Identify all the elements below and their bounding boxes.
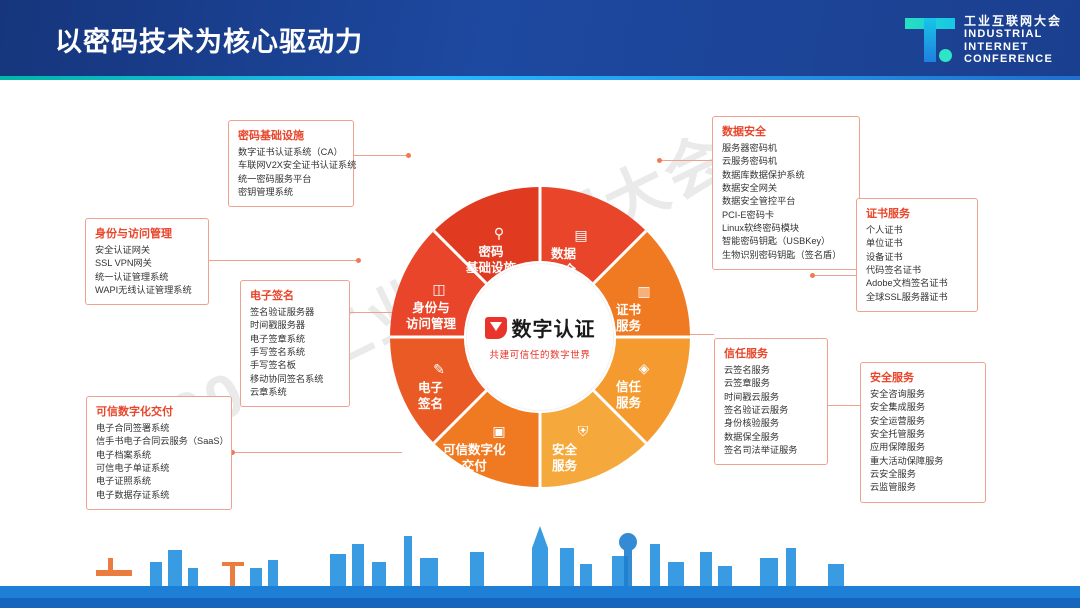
handshake-icon: ◈: [631, 360, 657, 377]
card-certificate-service[interactable]: 证书服务 个人证书 单位证书 设备证书 代码签名证书 Adobe文档签名证书 全…: [856, 198, 978, 312]
card-title: 安全服务: [870, 369, 976, 385]
list-item: 云监管服务: [870, 481, 976, 494]
shield-icon: ⛨: [570, 423, 596, 440]
list-item: 云签名服务: [724, 364, 818, 377]
list-item: Linux软终密码模块: [722, 222, 850, 235]
list-item: WAPI无线认证管理系统: [95, 284, 199, 297]
list-item: 云安全服务: [870, 468, 976, 481]
list-item: 全球SSL服务器证书: [866, 291, 968, 304]
list-item: 统一密码服务平台: [238, 173, 344, 186]
list-item: 电子档案系统: [96, 449, 222, 462]
card-trust-service[interactable]: 信任服务 云签名服务 云签章服务 时间戳云服务 签名验证云服务 身份核验服务 数…: [714, 338, 828, 465]
certificate-icon: ▥: [631, 283, 657, 300]
card-title: 信任服务: [724, 345, 818, 361]
connector-line: [812, 275, 856, 276]
page-header: 以密码技术为核心驱动力 工业互联网大会 INDUSTRIAL INTERNET …: [0, 0, 1080, 80]
list-item: 手写签名板: [250, 359, 340, 372]
connector-line: [232, 452, 402, 453]
list-item: 时间戳服务器: [250, 319, 340, 332]
list-item: 设备证书: [866, 251, 968, 264]
list-item: 手写签名系统: [250, 346, 340, 359]
connector-dot: [406, 153, 411, 158]
brand-name: 数字认证: [512, 313, 596, 342]
card-item-list: 数字证书认证系统（CA） 车联网V2X安全证书认证系统 统一密码服务平台 密钥管…: [238, 146, 344, 199]
skyline-svg: [0, 518, 1080, 608]
diagram-canvas: 2023工业互联网大会: [0, 80, 1080, 608]
list-item: 可信电子单证系统: [96, 462, 222, 475]
list-item: 云章系统: [250, 386, 340, 399]
logo-line-2: INTERNET: [964, 41, 1062, 53]
list-item: 安全运营服务: [870, 415, 976, 428]
identity-icon: ◫: [426, 281, 452, 298]
list-item: 数据安全网关: [722, 182, 850, 195]
connector-line: [352, 155, 410, 156]
logo-mark-icon: [905, 16, 955, 64]
card-trusted-delivery[interactable]: 可信数字化交付 电子合同签署系统 信手书电子合同云服务（SaaS） 电子档案系统…: [86, 396, 232, 510]
wheel-label-security-service: 安全服务: [552, 443, 577, 474]
wheel-label-trust-service: 信任服务: [616, 380, 641, 411]
brand-slogan: 共建可信任的数字世界: [489, 347, 590, 361]
card-e-signature[interactable]: 电子签名 签名验证服务器 时间戳服务器 电子签章系统 手写签名系统 手写签名板 …: [240, 280, 350, 407]
card-item-list: 安全咨询服务 安全集成服务 安全运营服务 安全托管服务 应用保障服务 重大活动保…: [870, 388, 976, 495]
card-identity-access[interactable]: 身份与访问管理 安全认证网关 SSL VPN网关 统一认证管理系统 WAPI无线…: [85, 218, 209, 305]
card-item-list: 电子合同签署系统 信手书电子合同云服务（SaaS） 电子档案系统 可信电子单证系…: [96, 422, 222, 502]
connector-dot: [810, 273, 815, 278]
capability-wheel: ▤ ▥ ◈ ⛨ ▣ ✎ ◫ ⚲ 数据安全 证书服务 信任服务 安全服务 可信数字…: [388, 185, 692, 489]
database-icon: ▤: [568, 227, 594, 244]
list-item: 身份核验服务: [724, 417, 818, 430]
list-item: 安全咨询服务: [870, 388, 976, 401]
list-item: PCI-E密码卡: [722, 209, 850, 222]
key-icon: ⚲: [486, 225, 512, 242]
list-item: 电子数据存证系统: [96, 489, 222, 502]
list-item: 服务器密码机: [722, 142, 850, 155]
connector-dot: [356, 258, 361, 263]
card-title: 密码基础设施: [238, 127, 344, 143]
list-item: 时间戳云服务: [724, 391, 818, 404]
list-item: 电子签章系统: [250, 333, 340, 346]
card-item-list: 个人证书 单位证书 设备证书 代码签名证书 Adobe文档签名证书 全球SSL服…: [866, 224, 968, 304]
logo-line-1: INDUSTRIAL: [964, 28, 1062, 40]
list-item: 生物识别密码钥匙（签名盾）: [722, 249, 850, 262]
list-item: 安全托管服务: [870, 428, 976, 441]
card-title: 数据安全: [722, 123, 850, 139]
wheel-hub: 数字认证 共建可信任的数字世界: [466, 263, 614, 411]
card-security-service[interactable]: 安全服务 安全咨询服务 安全集成服务 安全运营服务 安全托管服务 应用保障服务 …: [860, 362, 986, 503]
logo-title-cn: 工业互联网大会: [964, 15, 1062, 28]
list-item: 安全集成服务: [870, 401, 976, 414]
list-item: 云签章服务: [724, 377, 818, 390]
list-item: 签名司法举证服务: [724, 444, 818, 457]
wheel-label-identity-access: 身份与访问管理: [406, 301, 456, 332]
conference-logo: 工业互联网大会 INDUSTRIAL INTERNET CONFERENCE: [905, 12, 1062, 68]
wheel-label-e-signature: 电子签名: [418, 381, 443, 412]
list-item: 云服务密码机: [722, 155, 850, 168]
wheel-label-cert-service: 证书服务: [616, 303, 641, 334]
card-item-list: 服务器密码机 云服务密码机 数据库数据保护系统 数据安全网关 数据安全管控平台 …: [722, 142, 850, 262]
wheel-label-trusted-delivery: 可信数字化交付: [443, 443, 506, 474]
list-item: 数据库数据保护系统: [722, 169, 850, 182]
page-title: 以密码技术为核心驱动力: [55, 20, 363, 59]
card-title: 可信数字化交付: [96, 403, 222, 419]
list-item: 电子证照系统: [96, 475, 222, 488]
card-item-list: 安全认证网关 SSL VPN网关 统一认证管理系统 WAPI无线认证管理系统: [95, 244, 199, 297]
list-item: 签名验证云服务: [724, 404, 818, 417]
card-title: 身份与访问管理: [95, 225, 199, 241]
list-item: 统一认证管理系统: [95, 271, 199, 284]
card-item-list: 云签名服务 云签章服务 时间戳云服务 签名验证云服务 身份核验服务 数据保全服务…: [724, 364, 818, 457]
footer-skyline: [0, 518, 1080, 608]
list-item: 车联网V2X安全证书认证系统: [238, 159, 344, 172]
card-title: 电子签名: [250, 287, 340, 303]
list-item: 签名验证服务器: [250, 306, 340, 319]
signature-icon: ✎: [426, 361, 452, 378]
list-item: 代码签名证书: [866, 264, 968, 277]
list-item: SSL VPN网关: [95, 257, 199, 270]
list-item: 数据安全管控平台: [722, 195, 850, 208]
card-title: 证书服务: [866, 205, 968, 221]
list-item: 应用保障服务: [870, 441, 976, 454]
list-item: 数字证书认证系统（CA）: [238, 146, 344, 159]
connector-line: [208, 260, 358, 261]
list-item: 个人证书: [866, 224, 968, 237]
list-item: Adobe文档签名证书: [866, 277, 968, 290]
list-item: 移动协同签名系统: [250, 373, 340, 386]
connector-line: [660, 160, 712, 161]
list-item: 数据保全服务: [724, 431, 818, 444]
card-crypto-infra[interactable]: 密码基础设施 数字证书认证系统（CA） 车联网V2X安全证书认证系统 统一密码服…: [228, 120, 354, 207]
list-item: 智能密码钥匙（USBKey）: [722, 235, 850, 248]
brand-mark-icon: [485, 317, 507, 339]
list-item: 重大活动保障服务: [870, 455, 976, 468]
delivery-icon: ▣: [486, 423, 512, 440]
list-item: 单位证书: [866, 237, 968, 250]
card-data-security[interactable]: 数据安全 服务器密码机 云服务密码机 数据库数据保护系统 数据安全网关 数据安全…: [712, 116, 860, 270]
list-item: 密钥管理系统: [238, 186, 344, 199]
connector-dot: [657, 158, 662, 163]
list-item: 安全认证网关: [95, 244, 199, 257]
list-item: 信手书电子合同云服务（SaaS）: [96, 435, 222, 448]
logo-line-3: CONFERENCE: [964, 53, 1062, 65]
list-item: 电子合同签署系统: [96, 422, 222, 435]
card-item-list: 签名验证服务器 时间戳服务器 电子签章系统 手写签名系统 手写签名板 移动协同签…: [250, 306, 340, 399]
